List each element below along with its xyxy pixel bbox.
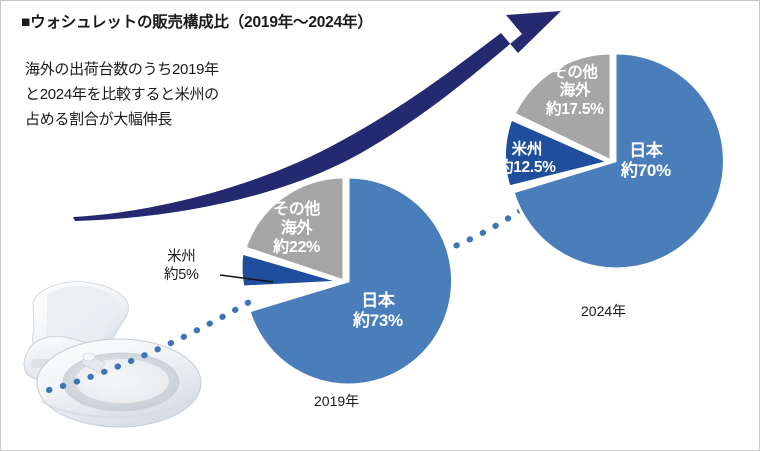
washlet-product-image [24,282,201,427]
pie-2019-year-label: 2019年 [314,391,359,411]
pie-2019-callout-us-value: 約5% [164,266,199,284]
pie-2019-callout-us: 米州 約5% [164,248,199,284]
annotation-line-3: 占める割合が大幅伸長 [25,107,219,132]
pie-chart-2024 [504,53,724,269]
pie-chart-2019 [220,177,453,385]
annotation-line-1: 海外の出荷台数のうち2019年 [25,57,219,82]
pie-2024-year-label: 2024年 [581,301,626,321]
dotted-connector-2019-to-2024 [443,203,531,251]
annotation-text: 海外の出荷台数のうち2019年 と2024年を比較すると米州の 占める割合が大幅… [25,57,219,132]
page-title: ■ウォシュレットの販売構成比（2019年〜2024年） [21,10,373,32]
infographic-canvas: ■ウォシュレットの販売構成比（2019年〜2024年） 海外の出荷台数のうち20… [0,0,760,451]
pie-2019-callout-us-name: 米州 [164,248,199,266]
annotation-line-2: と2024年を比較すると米州の [25,82,219,107]
